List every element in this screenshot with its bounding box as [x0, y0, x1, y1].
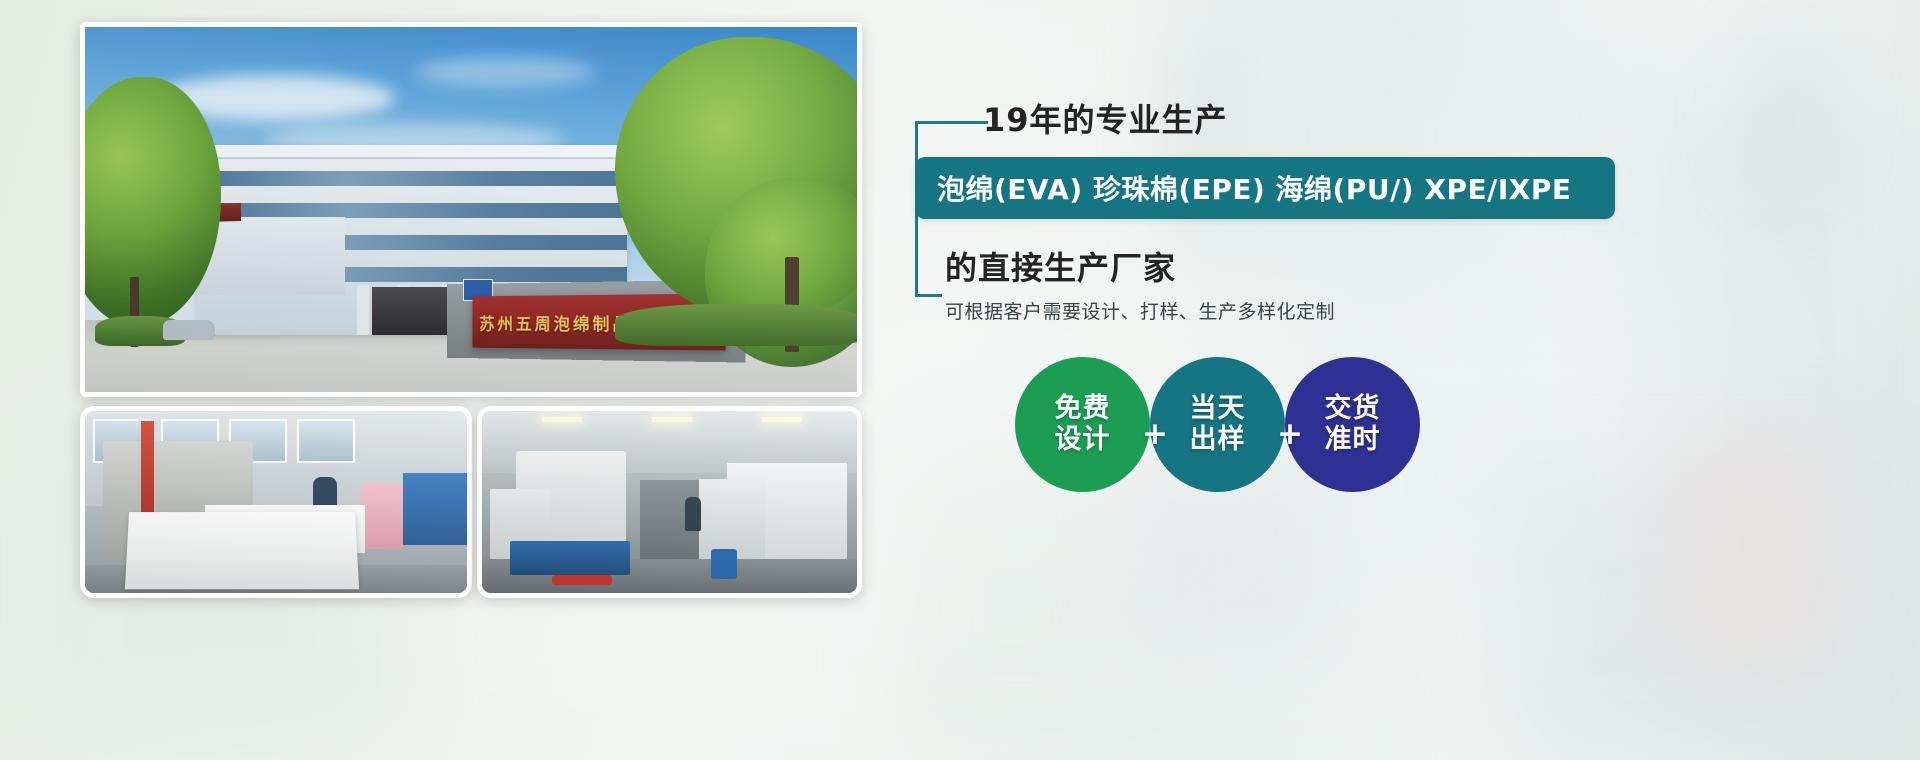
- background-blur-shape: [1640, 120, 1920, 540]
- badge-line-2: 出样: [1190, 425, 1246, 456]
- badge-line-1: 免费: [1055, 394, 1111, 425]
- foam-cutting-workshop-photo: [80, 406, 472, 598]
- background-blur-shape: [1755, 40, 1825, 190]
- photo-overlay: [482, 411, 857, 593]
- photo-overlay: [85, 411, 467, 593]
- background-blur-shape: [1660, 430, 1840, 670]
- promo-banner: 苏州五周泡绵制品有限公司: [0, 0, 1920, 760]
- badge-same-day-sample: 当天 出样: [1150, 357, 1285, 492]
- badge-line-1: 交货: [1325, 394, 1381, 425]
- product-list-pill: 泡绵(EVA) 珍珠棉(EPE) 海绵(PU/) XPE/IXPE: [915, 157, 1615, 219]
- headline-bottom: 的直接生产厂家: [945, 243, 1176, 289]
- warehouse-aisle-photo: [477, 406, 862, 598]
- background-blur-shape: [1180, 0, 1480, 290]
- bracket-arm-bottom: [920, 294, 942, 297]
- product-list-text: 泡绵(EVA) 珍珠棉(EPE) 海绵(PU/) XPE/IXPE: [915, 168, 1571, 208]
- photo-overlay: [85, 27, 857, 392]
- badge-line-2: 设计: [1055, 425, 1111, 456]
- background-blur-shape: [1500, 470, 1920, 760]
- service-badges: 免费 设计 + 当天 出样 + 交货 准时: [1015, 357, 1445, 507]
- plus-separator-2: +: [1277, 419, 1303, 450]
- factory-exterior-photo: 苏州五周泡绵制品有限公司: [80, 22, 862, 397]
- badge-line-2: 准时: [1325, 425, 1381, 456]
- headline-top: 19年的专业生产: [983, 95, 1228, 141]
- subtitle-text: 可根据客户需要设计、打样、生产多样化定制: [945, 297, 1335, 324]
- plus-separator-1: +: [1142, 419, 1168, 450]
- badge-free-design: 免费 设计: [1015, 357, 1150, 492]
- badge-on-time-delivery: 交货 准时: [1285, 357, 1420, 492]
- bracket-arm-top: [920, 121, 988, 124]
- badge-line-1: 当天: [1190, 394, 1246, 425]
